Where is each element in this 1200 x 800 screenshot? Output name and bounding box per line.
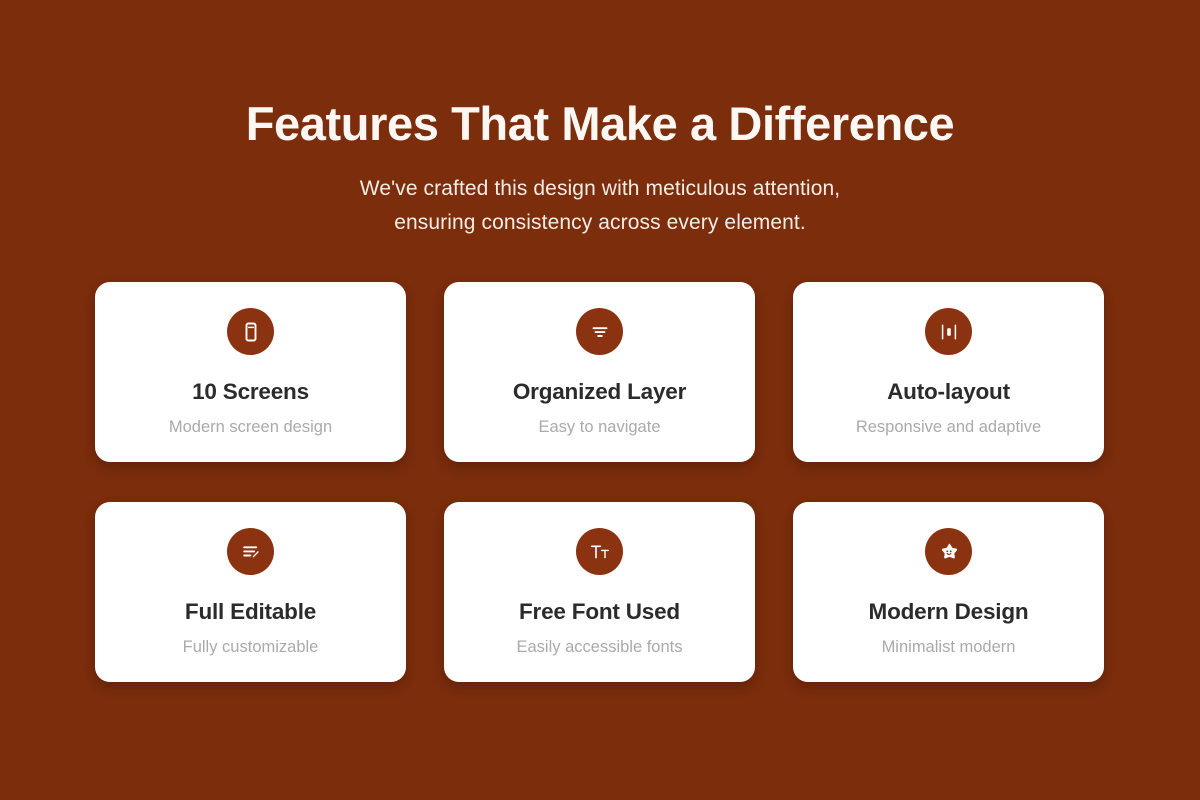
feature-card-description: Minimalist modern: [882, 625, 1016, 657]
feature-card-description: Responsive and adaptive: [856, 405, 1041, 437]
feature-card-title: Organized Layer: [513, 355, 686, 405]
feature-card-title: 10 Screens: [192, 355, 309, 405]
feature-card-full-editable[interactable]: Full Editable Fully customizable: [95, 502, 406, 682]
feature-card-organized-layer[interactable]: Organized Layer Easy to navigate: [444, 282, 755, 462]
typography-tt-icon: [576, 528, 623, 575]
feature-card-grid: 10 Screens Modern screen design Organize…: [95, 282, 1105, 682]
section-header: Features That Make a Difference We've cr…: [0, 96, 1200, 240]
feature-card-description: Easily accessible fonts: [517, 625, 683, 657]
edit-pencil-lines-icon: [227, 528, 274, 575]
feature-card-title: Modern Design: [869, 575, 1029, 625]
auto-layout-bars-icon: [925, 308, 972, 355]
mobile-phone-icon: [227, 308, 274, 355]
feature-card-free-font-used[interactable]: Free Font Used Easily accessible fonts: [444, 502, 755, 682]
feature-card-10-screens[interactable]: 10 Screens Modern screen design: [95, 282, 406, 462]
smiley-star-icon: [925, 528, 972, 575]
subtitle-line-1: We've crafted this design with meticulou…: [0, 172, 1200, 206]
feature-card-title: Full Editable: [185, 575, 316, 625]
page-title: Features That Make a Difference: [0, 96, 1200, 152]
subtitle-line-2: ensuring consistency across every elemen…: [0, 206, 1200, 240]
feature-card-title: Auto-layout: [887, 355, 1010, 405]
feature-card-title: Free Font Used: [519, 575, 680, 625]
feature-card-description: Modern screen design: [169, 405, 332, 437]
feature-card-description: Easy to navigate: [539, 405, 661, 437]
align-center-lines-icon: [576, 308, 623, 355]
section-subtitle: We've crafted this design with meticulou…: [0, 172, 1200, 240]
feature-card-auto-layout[interactable]: Auto-layout Responsive and adaptive: [793, 282, 1104, 462]
features-section: Features That Make a Difference We've cr…: [0, 0, 1200, 800]
feature-card-modern-design[interactable]: Modern Design Minimalist modern: [793, 502, 1104, 682]
feature-card-description: Fully customizable: [183, 625, 319, 657]
